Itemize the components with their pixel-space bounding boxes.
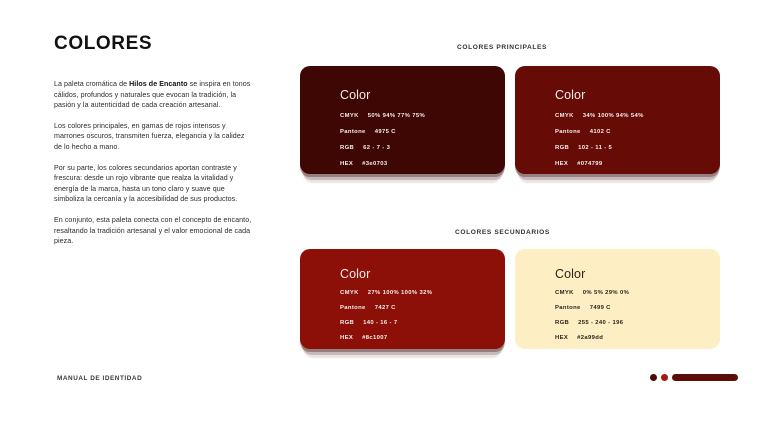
- spec-hex: HEX#3e0703: [340, 161, 495, 167]
- color-card-2[interactable]: Color CMYK34% 100% 94% 54% Pantone4102 C…: [515, 66, 720, 174]
- pagination-indicator[interactable]: [650, 374, 738, 381]
- pagination-dot-1[interactable]: [650, 374, 657, 381]
- card-face: Color CMYK27% 100% 100% 32% Pantone7427 …: [300, 249, 505, 349]
- card-content: Color CMYK34% 100% 94% 54% Pantone4102 C…: [555, 88, 710, 167]
- spec-value-pantone: 4975 C: [375, 129, 396, 135]
- card-face: Color CMYK50% 94% 77% 75% Pantone4975 C …: [300, 66, 505, 174]
- spec-pantone: Pantone4102 C: [555, 129, 710, 135]
- spec-value-pantone: 4102 C: [590, 129, 611, 135]
- intro-paragraph-3: Por su parte, los colores secundarios ap…: [54, 163, 254, 205]
- intro-paragraph-2: Los colores principales, en gamas de roj…: [54, 121, 254, 153]
- card-content: Color CMYK50% 94% 77% 75% Pantone4975 C …: [340, 88, 495, 167]
- card-face: Color CMYK0% 5% 29% 0% Pantone7499 C RGB…: [515, 249, 720, 349]
- card-title: Color: [555, 88, 710, 102]
- intro-copy: La paleta cromática de Hilos de Encanto …: [54, 79, 254, 247]
- spec-pantone: Pantone4975 C: [340, 129, 495, 135]
- spec-label-pantone: Pantone: [555, 305, 581, 311]
- section-header-secundarios: COLORES SECUNDARIOS: [455, 229, 550, 236]
- spec-label-cmyk: CMYK: [555, 113, 574, 119]
- spec-value-rgb: 62 - 7 - 3: [363, 145, 390, 151]
- intro-paragraph-1: La paleta cromática de Hilos de Encanto …: [54, 79, 254, 111]
- card-face: Color CMYK34% 100% 94% 54% Pantone4102 C…: [515, 66, 720, 174]
- spec-value-rgb: 102 - 11 - 5: [578, 145, 612, 151]
- card-content: Color CMYK0% 5% 29% 0% Pantone7499 C RGB…: [555, 267, 710, 349]
- spec-hex: HEX#2a99dd: [555, 335, 710, 341]
- card-title: Color: [340, 267, 495, 281]
- slide-canvas: COLORES La paleta cromática de Hilos de …: [0, 0, 768, 432]
- spec-value-cmyk: 50% 94% 77% 75%: [368, 113, 425, 119]
- spec-label-rgb: RGB: [555, 320, 569, 326]
- card-title: Color: [340, 88, 495, 102]
- card-stack: Color CMYK27% 100% 100% 32% Pantone7427 …: [300, 249, 505, 349]
- spec-label-pantone: Pantone: [555, 129, 581, 135]
- spec-value-pantone: 7499 C: [590, 305, 611, 311]
- card-stack: Color CMYK34% 100% 94% 54% Pantone4102 C…: [515, 66, 720, 174]
- spec-rgb: RGB255 - 240 - 196: [555, 320, 710, 326]
- pagination-active-pill[interactable]: [672, 374, 738, 381]
- spec-pantone: Pantone7427 C: [340, 305, 495, 311]
- spec-pantone: Pantone7499 C: [555, 305, 710, 311]
- spec-value-hex: #074799: [577, 161, 602, 167]
- spec-cmyk: CMYK0% 5% 29% 0%: [555, 290, 710, 296]
- card-stack: Color CMYK50% 94% 77% 75% Pantone4975 C …: [300, 66, 505, 174]
- card-title: Color: [555, 267, 710, 281]
- color-card-4[interactable]: Color CMYK0% 5% 29% 0% Pantone7499 C RGB…: [515, 249, 720, 349]
- color-card-3[interactable]: Color CMYK27% 100% 100% 32% Pantone7427 …: [300, 249, 505, 349]
- page-title: COLORES: [54, 33, 254, 55]
- spec-cmyk: CMYK34% 100% 94% 54%: [555, 113, 710, 119]
- spec-value-cmyk: 27% 100% 100% 32%: [368, 290, 433, 296]
- spec-value-rgb: 140 - 16 - 7: [363, 320, 397, 326]
- spec-value-cmyk: 34% 100% 94% 54%: [583, 113, 644, 119]
- spec-value-rgb: 255 - 240 - 196: [578, 320, 623, 326]
- color-card-1[interactable]: Color CMYK50% 94% 77% 75% Pantone4975 C …: [300, 66, 505, 174]
- spec-label-rgb: RGB: [340, 320, 354, 326]
- card-stack: Color CMYK0% 5% 29% 0% Pantone7499 C RGB…: [515, 249, 720, 349]
- spec-rgb: RGB62 - 7 - 3: [340, 145, 495, 151]
- spec-label-rgb: RGB: [340, 145, 354, 151]
- spec-cmyk: CMYK27% 100% 100% 32%: [340, 290, 495, 296]
- spec-value-hex: #3e0703: [362, 161, 387, 167]
- brand-name: Hilos de Encanto: [129, 80, 188, 88]
- spec-label-hex: HEX: [555, 335, 568, 341]
- spec-rgb: RGB102 - 11 - 5: [555, 145, 710, 151]
- spec-label-rgb: RGB: [555, 145, 569, 151]
- spec-label-cmyk: CMYK: [555, 290, 574, 296]
- spec-value-hex: #8c1007: [362, 335, 387, 341]
- spec-label-hex: HEX: [340, 161, 353, 167]
- left-text-column: COLORES La paleta cromática de Hilos de …: [54, 33, 254, 247]
- spec-cmyk: CMYK50% 94% 77% 75%: [340, 113, 495, 119]
- spec-value-pantone: 7427 C: [375, 305, 396, 311]
- spec-label-cmyk: CMYK: [340, 113, 359, 119]
- spec-hex: HEX#074799: [555, 161, 710, 167]
- card-content: Color CMYK27% 100% 100% 32% Pantone7427 …: [340, 267, 495, 349]
- footer-label: MANUAL DE IDENTIDAD: [57, 375, 142, 382]
- spec-value-cmyk: 0% 5% 29% 0%: [583, 290, 629, 296]
- spec-rgb: RGB140 - 16 - 7: [340, 320, 495, 326]
- spec-value-hex: #2a99dd: [577, 335, 603, 341]
- intro-p1-before: La paleta cromática de: [54, 80, 129, 88]
- spec-label-hex: HEX: [340, 335, 353, 341]
- pagination-dot-2[interactable]: [661, 374, 668, 381]
- section-header-principales: COLORES PRINCIPALES: [457, 44, 547, 51]
- spec-label-cmyk: CMYK: [340, 290, 359, 296]
- spec-hex: HEX#8c1007: [340, 335, 495, 341]
- spec-label-pantone: Pantone: [340, 129, 366, 135]
- intro-paragraph-4: En conjunto, esta paleta conecta con el …: [54, 215, 254, 247]
- spec-label-pantone: Pantone: [340, 305, 366, 311]
- spec-label-hex: HEX: [555, 161, 568, 167]
